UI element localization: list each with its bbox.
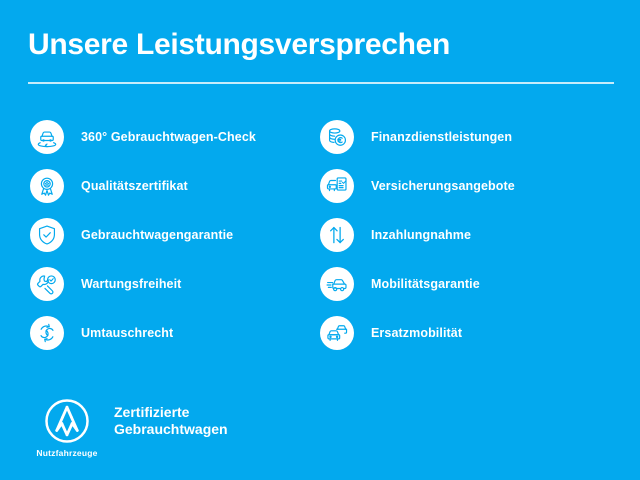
promise-grid: 360° Gebrauchtwagen-Check Qualitätszerti…: [0, 120, 640, 365]
brand-footer: Nutzfahrzeuge Zertifizierte Gebrauchtwag…: [30, 396, 228, 458]
promise-label: Versicherungsangebote: [371, 179, 515, 193]
promise-label: Qualitätszertifikat: [81, 179, 188, 193]
promise-item-mobilitaetsgarantie[interactable]: Mobilitätsgarantie: [320, 267, 640, 301]
promise-label: 360° Gebrauchtwagen-Check: [81, 130, 256, 144]
promise-label: Umtauschrecht: [81, 326, 173, 340]
title-divider: [28, 82, 614, 84]
promise-label: Inzahlungnahme: [371, 228, 471, 242]
volkswagen-logo: [44, 398, 90, 444]
promise-item-360-check[interactable]: 360° Gebrauchtwagen-Check: [30, 120, 320, 154]
promise-column-right: Finanzdienstleistungen Versicherungsange…: [320, 120, 640, 365]
promise-item-inzahlungnahme[interactable]: Inzahlungnahme: [320, 218, 640, 252]
header: Unsere Leistungsversprechen: [28, 26, 614, 84]
promise-item-versicherungsangebote[interactable]: Versicherungsangebote: [320, 169, 640, 203]
two-cars-icon: [320, 316, 354, 350]
promise-item-ersatzmobilitaet[interactable]: Ersatzmobilität: [320, 316, 640, 350]
brand-claim: Zertifizierte Gebrauchtwagen: [114, 396, 228, 438]
promise-label: Wartungsfreiheit: [81, 277, 181, 291]
shield-check-icon: [30, 218, 64, 252]
wrench-check-icon: [30, 267, 64, 301]
moving-car-icon: [320, 267, 354, 301]
promise-item-wartungsfreiheit[interactable]: Wartungsfreiheit: [30, 267, 320, 301]
promise-item-gebrauchtwagengarantie[interactable]: Gebrauchtwagengarantie: [30, 218, 320, 252]
car-360-check-icon: [30, 120, 64, 154]
coins-euro-icon: [320, 120, 354, 154]
brand-claim-line1: Zertifizierte: [114, 404, 228, 421]
promise-label: Mobilitätsgarantie: [371, 277, 480, 291]
promise-label: Finanzdienstleistungen: [371, 130, 512, 144]
up-down-arrows-icon: [320, 218, 354, 252]
car-document-check-icon: [320, 169, 354, 203]
brand-claim-line2: Gebrauchtwagen: [114, 421, 228, 438]
brand-sub-label: Nutzfahrzeuge: [30, 448, 104, 458]
promise-label: Gebrauchtwagengarantie: [81, 228, 233, 242]
exchange-arrows-icon: [30, 316, 64, 350]
promise-item-finanzdienstleistungen[interactable]: Finanzdienstleistungen: [320, 120, 640, 154]
page-title: Unsere Leistungsversprechen: [28, 26, 614, 64]
promise-item-umtauschrecht[interactable]: Umtauschrecht: [30, 316, 320, 350]
promise-label: Ersatzmobilität: [371, 326, 462, 340]
brand-mark: Nutzfahrzeuge: [30, 396, 104, 458]
award-rosette-icon: [30, 169, 64, 203]
slide-root: Unsere Leistungsversprechen 360° Gebrauc: [0, 0, 640, 480]
promise-column-left: 360° Gebrauchtwagen-Check Qualitätszerti…: [0, 120, 320, 365]
promise-item-qualitaetszertifikat[interactable]: Qualitätszertifikat: [30, 169, 320, 203]
